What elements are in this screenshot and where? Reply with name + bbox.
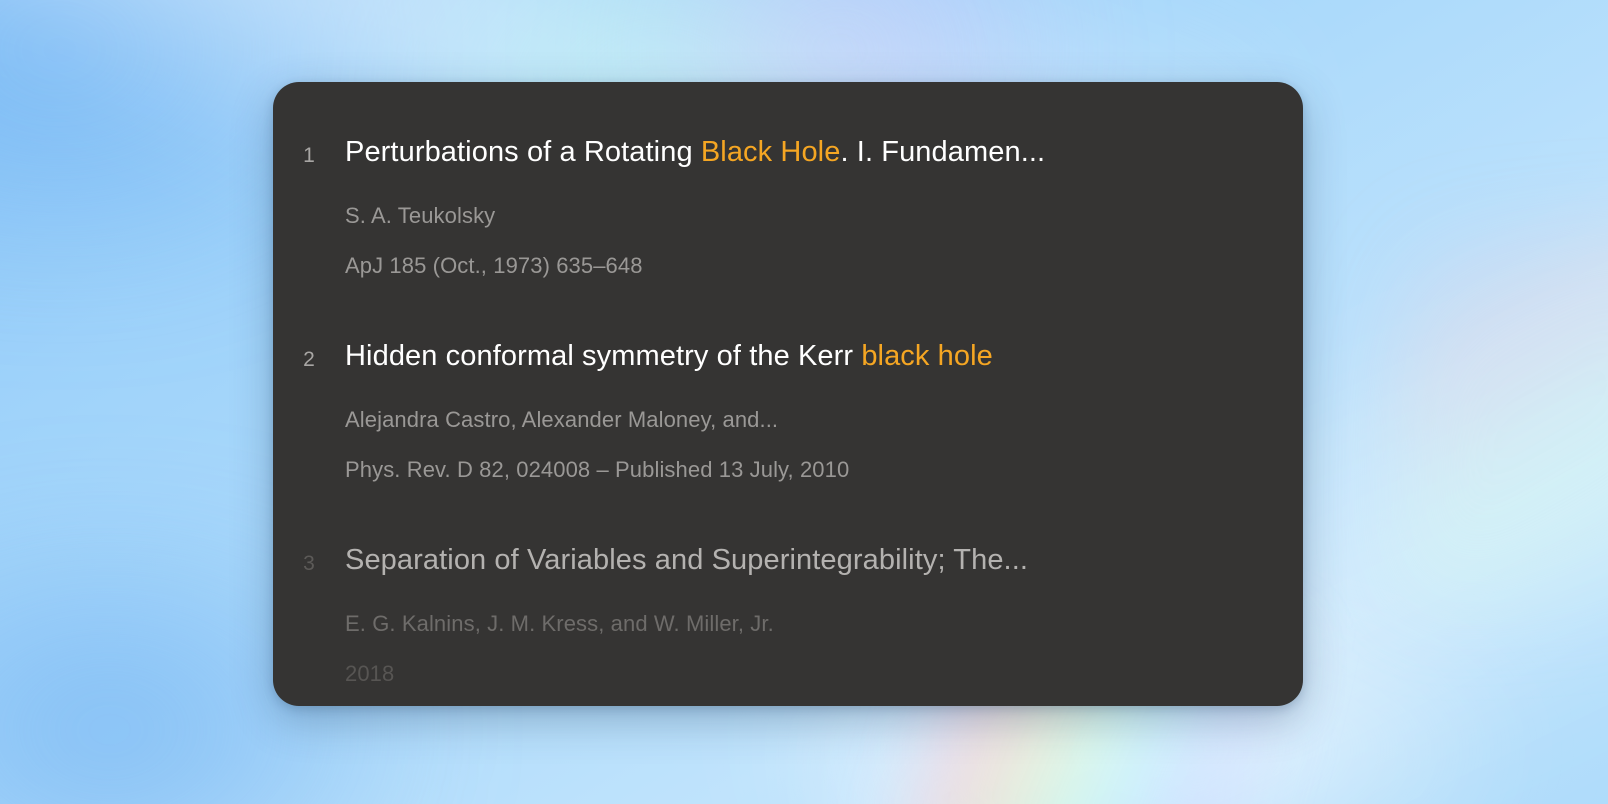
- result-index: 1: [273, 130, 345, 178]
- search-result-item[interactable]: 1 Perturbations of a Rotating Black Hole…: [273, 130, 1303, 282]
- search-results-panel: 1 Perturbations of a Rotating Black Hole…: [273, 82, 1303, 706]
- search-results-list: 1 Perturbations of a Rotating Black Hole…: [273, 82, 1303, 706]
- result-title-highlight: Black Hole: [701, 136, 841, 168]
- result-body: Separation of Variables and Superintegra…: [345, 538, 1263, 690]
- result-source: 2018: [345, 658, 1253, 690]
- result-body: Perturbations of a Rotating Black Hole. …: [345, 130, 1263, 282]
- result-title[interactable]: Separation of Variables and Superintegra…: [345, 538, 1253, 582]
- result-title-prefix: Hidden conformal symmetry of the Kerr: [345, 340, 861, 372]
- search-result-item[interactable]: 2 Hidden conformal symmetry of the Kerr …: [273, 334, 1303, 486]
- result-title-highlight: black hole: [861, 340, 993, 372]
- result-title[interactable]: Perturbations of a Rotating Black Hole. …: [345, 130, 1253, 174]
- search-result-item[interactable]: 3 Separation of Variables and Superinteg…: [273, 538, 1303, 690]
- result-title-prefix: Separation of Variables and Superintegra…: [345, 544, 1028, 576]
- result-index: 3: [273, 538, 345, 586]
- result-body: Hidden conformal symmetry of the Kerr bl…: [345, 334, 1263, 486]
- result-title-suffix: . I. Fundamen...: [840, 136, 1045, 168]
- result-source: ApJ 185 (Oct., 1973) 635–648: [345, 250, 1253, 282]
- result-authors: S. A. Teukolsky: [345, 200, 1253, 232]
- result-title[interactable]: Hidden conformal symmetry of the Kerr bl…: [345, 334, 1253, 378]
- wallpaper-prism-right: [1400, 230, 1608, 610]
- result-index: 2: [273, 334, 345, 382]
- result-authors: E. G. Kalnins, J. M. Kress, and W. Mille…: [345, 608, 1253, 640]
- result-title-prefix: Perturbations of a Rotating: [345, 136, 701, 168]
- result-authors: Alejandra Castro, Alexander Maloney, and…: [345, 404, 1253, 436]
- result-source: Phys. Rev. D 82, 024008 – Published 13 J…: [345, 454, 1253, 486]
